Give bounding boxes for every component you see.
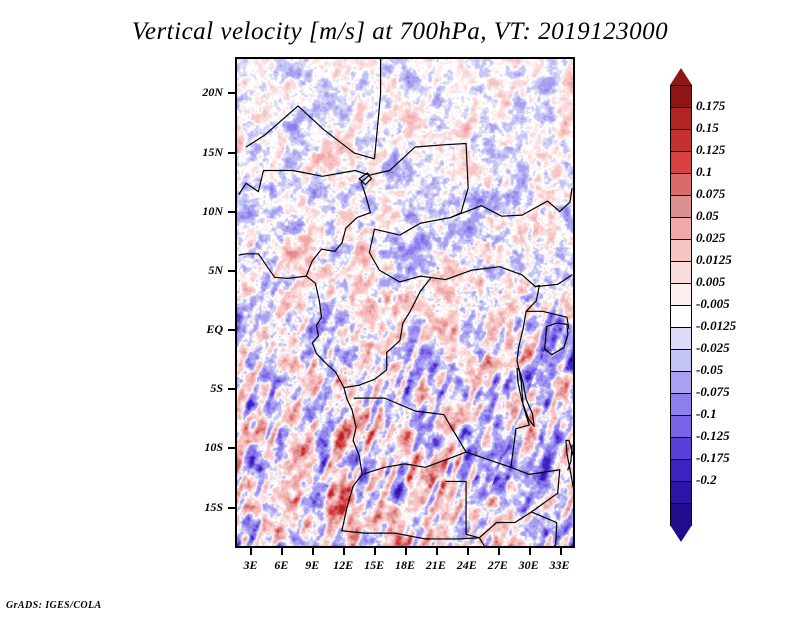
colorbar-tick-label: 0.1 — [696, 165, 712, 178]
colorbar-band[interactable] — [670, 349, 692, 372]
x-axis-label: 33E — [535, 558, 585, 573]
vertical-velocity-heatmap — [237, 59, 573, 546]
y-axis-label: 10S — [163, 440, 223, 455]
colorbar[interactable]: 0.1750.150.1250.10.0750.050.0250.01250.0… — [660, 55, 800, 565]
colorbar-band[interactable] — [670, 481, 692, 504]
page-title: Vertical velocity [m/s] at 700hPa, VT: 2… — [0, 18, 800, 46]
colorbar-cap-max-icon — [670, 68, 692, 85]
x-axis-tick — [343, 548, 345, 555]
colorbar-tick-label: 0.025 — [696, 231, 725, 244]
y-axis-label: 15S — [163, 500, 223, 515]
colorbar-band[interactable] — [670, 415, 692, 438]
y-axis-label: 15N — [163, 145, 223, 160]
colorbar-tick-label: 0.15 — [696, 121, 719, 134]
colorbar-tick-label: 0.075 — [696, 187, 725, 200]
colorbar-band[interactable] — [670, 129, 692, 152]
colorbar-tick-label: -0.075 — [696, 385, 730, 398]
x-axis-tick — [436, 548, 438, 555]
colorbar-band[interactable] — [670, 503, 692, 526]
footer-credit: GrADS: IGES/COLA — [6, 600, 102, 611]
colorbar-band[interactable] — [670, 459, 692, 482]
colorbar-tick-label: -0.0125 — [696, 319, 736, 332]
colorbar-tick-label: -0.05 — [696, 363, 723, 376]
colorbar-band[interactable] — [670, 85, 692, 108]
x-axis-tick — [374, 548, 376, 555]
y-axis-label: 5N — [163, 263, 223, 278]
x-axis-tick — [250, 548, 252, 555]
colorbar-tick-label: -0.1 — [696, 407, 717, 420]
colorbar-band[interactable] — [670, 371, 692, 394]
colorbar-tick-label: 0.005 — [696, 275, 725, 288]
y-axis-tick — [228, 447, 235, 449]
map-plot-area[interactable] — [235, 57, 575, 548]
x-axis-tick — [312, 548, 314, 555]
x-axis-tick — [560, 548, 562, 555]
x-axis-tick — [281, 548, 283, 555]
colorbar-band[interactable] — [670, 437, 692, 460]
colorbar-tick-label: -0.175 — [696, 451, 730, 464]
colorbar-band[interactable] — [670, 261, 692, 284]
y-axis-label: EQ — [163, 322, 223, 337]
colorbar-band[interactable] — [670, 217, 692, 240]
colorbar-tick-label: 0.125 — [696, 143, 725, 156]
colorbar-band[interactable] — [670, 239, 692, 262]
y-axis-label: 10N — [163, 204, 223, 219]
y-axis-label: 20N — [163, 85, 223, 100]
colorbar-tick-label: -0.125 — [696, 429, 730, 442]
x-axis-tick — [405, 548, 407, 555]
y-axis-tick — [228, 211, 235, 213]
colorbar-band[interactable] — [670, 305, 692, 328]
y-axis-tick — [228, 507, 235, 509]
colorbar-band[interactable] — [670, 173, 692, 196]
colorbar-tick-label: 0.05 — [696, 209, 719, 222]
colorbar-band[interactable] — [670, 151, 692, 174]
colorbar-tick-label: -0.005 — [696, 297, 730, 310]
colorbar-band[interactable] — [670, 393, 692, 416]
colorbar-cap-min-icon — [670, 525, 692, 542]
x-axis-tick — [529, 548, 531, 555]
colorbar-tick-label: -0.025 — [696, 341, 730, 354]
colorbar-band[interactable] — [670, 283, 692, 306]
x-axis-tick — [467, 548, 469, 555]
y-axis-tick — [228, 92, 235, 94]
y-axis-tick — [228, 388, 235, 390]
y-axis-tick — [228, 329, 235, 331]
x-axis-tick — [498, 548, 500, 555]
y-axis-tick — [228, 152, 235, 154]
colorbar-tick-label: 0.175 — [696, 99, 725, 112]
y-axis-label: 5S — [163, 381, 223, 396]
y-axis-tick — [228, 270, 235, 272]
colorbar-band[interactable] — [670, 327, 692, 350]
colorbar-tick-label: 0.0125 — [696, 253, 732, 266]
colorbar-band[interactable] — [670, 195, 692, 218]
colorbar-tick-label: -0.2 — [696, 473, 717, 486]
colorbar-band[interactable] — [670, 107, 692, 130]
